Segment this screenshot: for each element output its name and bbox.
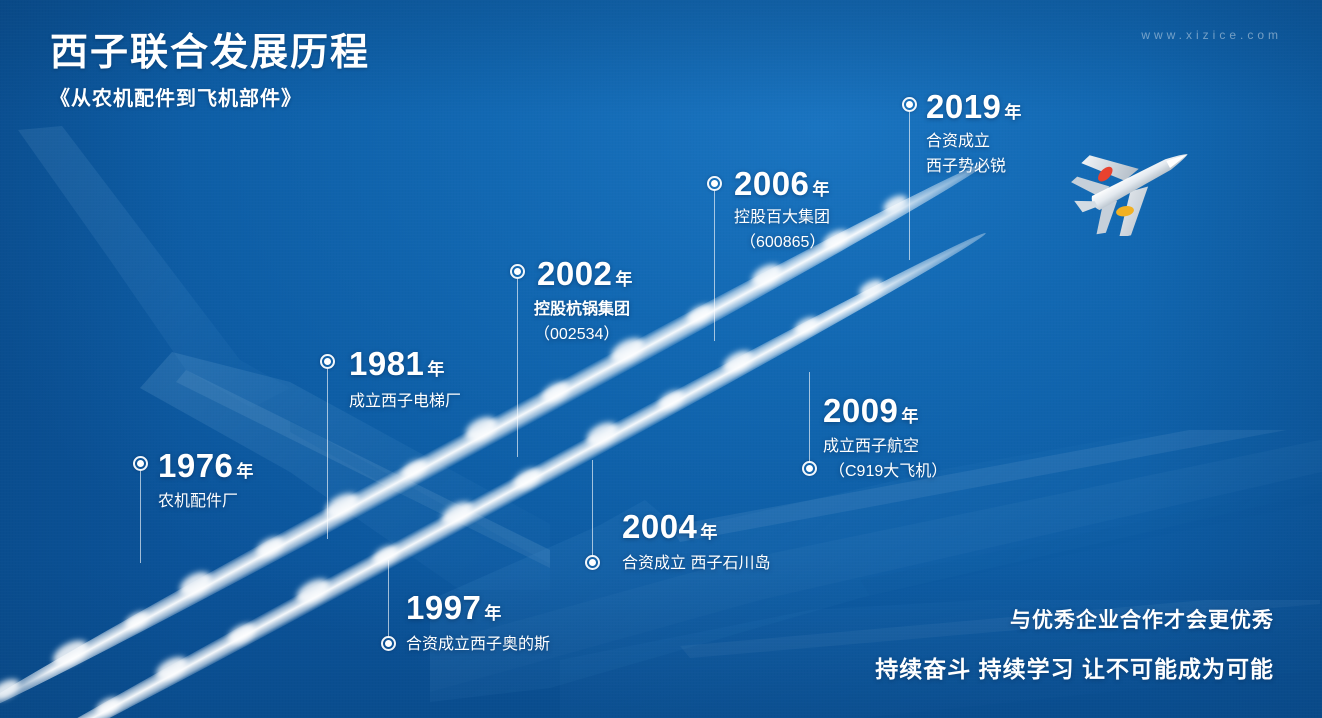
timeline-year: 1976年: [158, 447, 254, 485]
timeline-year: 1997年: [406, 589, 502, 627]
timeline-year: 2019年: [926, 88, 1022, 126]
year-number: 1981: [349, 345, 424, 382]
desc-main: 成立西子电梯厂: [349, 393, 461, 410]
desc-main: 农机配件厂: [158, 493, 238, 510]
year-suffix: 年: [615, 270, 633, 289]
timeline-year: 2009年: [823, 392, 919, 430]
timeline-desc: 合资成立 西子势必锐: [926, 130, 1006, 180]
desc-main: 合资成立西子奥的斯: [406, 636, 550, 653]
year-number: 2002: [537, 255, 612, 292]
timeline-stem: [592, 460, 593, 557]
timeline-desc: 合资成立 西子石川岛: [622, 552, 770, 577]
timeline-dot: [902, 97, 917, 112]
timeline-dot: [585, 555, 600, 570]
desc-sub: （002534）: [534, 323, 630, 348]
airplane-icon: [1060, 126, 1210, 236]
desc-main: 控股杭锅集团: [534, 301, 630, 318]
timeline-dot: [802, 461, 817, 476]
poster-canvas: 西子联合发展历程 《从农机配件到飞机部件》 www.xizice.com 197…: [0, 0, 1322, 718]
year-number: 1976: [158, 447, 233, 484]
page-subtitle: 《从农机配件到飞机部件》: [50, 82, 370, 111]
desc-sub: （C919大飞机）: [829, 460, 947, 485]
website-url: www.xizice.com: [1141, 28, 1282, 42]
page-title: 西子联合发展历程: [50, 32, 370, 76]
year-number: 2009: [823, 392, 898, 429]
timeline-desc: 控股杭锅集团 （002534）: [534, 298, 630, 348]
desc-main: 合资成立: [926, 133, 990, 150]
timeline-desc: 农机配件厂: [158, 490, 238, 515]
timeline-year: 1981年: [349, 345, 445, 383]
year-number: 2019: [926, 88, 1001, 125]
desc-main: 成立西子航空: [823, 438, 919, 455]
timeline-desc: 成立西子电梯厂: [349, 390, 461, 415]
desc-sub: （600865）: [740, 231, 830, 256]
year-suffix: 年: [427, 360, 445, 379]
timeline-stem: [909, 112, 910, 260]
timeline-stem: [327, 369, 328, 539]
timeline-year: 2002年: [537, 255, 633, 293]
timeline-desc: 合资成立西子奥的斯: [406, 633, 550, 658]
timeline-stem: [388, 560, 389, 638]
year-suffix: 年: [236, 462, 254, 481]
desc-sub: 西子势必锐: [926, 155, 1006, 180]
year-suffix: 年: [901, 407, 919, 426]
timeline-desc: 控股百大集团 （600865）: [734, 206, 830, 256]
timeline-dot: [707, 176, 722, 191]
timeline-stem: [714, 191, 715, 341]
desc-main: 控股百大集团: [734, 209, 830, 226]
timeline-dot: [133, 456, 148, 471]
year-number: 2006: [734, 165, 809, 202]
tagline-line-1: 与优秀企业合作才会更优秀: [875, 604, 1274, 634]
year-number: 1997: [406, 589, 481, 626]
timeline-stem: [517, 279, 518, 457]
timeline-stem: [809, 372, 810, 463]
timeline-dot: [381, 636, 396, 651]
tagline-line-2: 持续奋斗 持续学习 让不可能成为可能: [875, 650, 1274, 684]
year-suffix: 年: [1004, 103, 1022, 122]
timeline-dot: [510, 264, 525, 279]
timeline-stem: [140, 471, 141, 563]
timeline-year: 2006年: [734, 165, 830, 203]
timeline-desc: 成立西子航空 （C919大飞机）: [823, 435, 947, 485]
timeline-year: 2004年: [622, 508, 718, 546]
year-number: 2004: [622, 508, 697, 545]
timeline-dot: [320, 354, 335, 369]
year-suffix: 年: [484, 604, 502, 623]
tagline-block: 与优秀企业合作才会更优秀 持续奋斗 持续学习 让不可能成为可能: [875, 604, 1274, 684]
header-block: 西子联合发展历程 《从农机配件到飞机部件》: [50, 32, 370, 111]
year-suffix: 年: [812, 180, 830, 199]
year-suffix: 年: [700, 523, 718, 542]
desc-main: 合资成立 西子石川岛: [622, 555, 770, 572]
